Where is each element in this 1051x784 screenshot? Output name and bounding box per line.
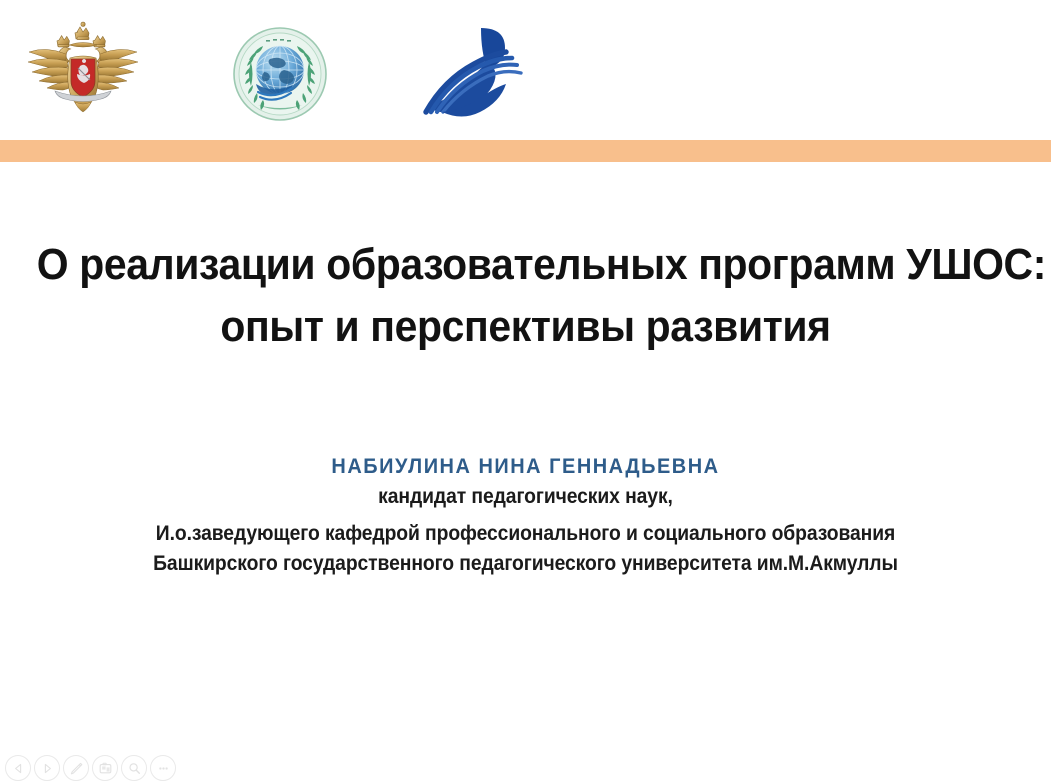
presentation-slide: О реализации образовательных программ УШ…: [0, 0, 1051, 784]
logo-strip: [0, 0, 1051, 140]
page-title: О реализации образовательных программ УШ…: [0, 234, 1051, 358]
title-line-1: О реализации образовательных программ УШ…: [37, 234, 1014, 296]
more-options-button[interactable]: [150, 755, 176, 781]
author-name: НАБИУЛИНА НИНА ГЕННАДЬЕВНА: [26, 452, 1024, 482]
next-page-button[interactable]: [34, 755, 60, 781]
author-degree: кандидат педагогических наук,: [42, 482, 1009, 512]
annotate-button[interactable]: [63, 755, 89, 781]
blue-wave-swan-logo-icon: [418, 22, 528, 122]
previous-page-button[interactable]: [5, 755, 31, 781]
author-organization: Башкирского государственного педагогичес…: [42, 549, 1009, 579]
viewer-toolbar: [5, 754, 176, 782]
author-position: И.о.заведующего кафедрой профессионально…: [42, 519, 1009, 549]
zoom-search-button[interactable]: [121, 755, 147, 781]
pen-icon: [69, 761, 84, 776]
magnifier-icon: [127, 761, 142, 776]
triangle-right-icon: [41, 762, 54, 775]
ellipsis-icon: [156, 761, 171, 776]
camera-icon: [98, 761, 113, 776]
orange-divider-band: [0, 140, 1051, 162]
shanghai-cooperation-organisation-emblem-icon: [232, 26, 328, 122]
author-block: НАБИУЛИНА НИНА ГЕННАДЬЕВНА кандидат педа…: [0, 452, 1051, 579]
title-line-2: опыт и перспективы развития: [37, 296, 1014, 358]
screenshot-button[interactable]: [92, 755, 118, 781]
double-headed-eagle-emblem-icon: [22, 18, 144, 122]
triangle-left-icon: [12, 762, 25, 775]
